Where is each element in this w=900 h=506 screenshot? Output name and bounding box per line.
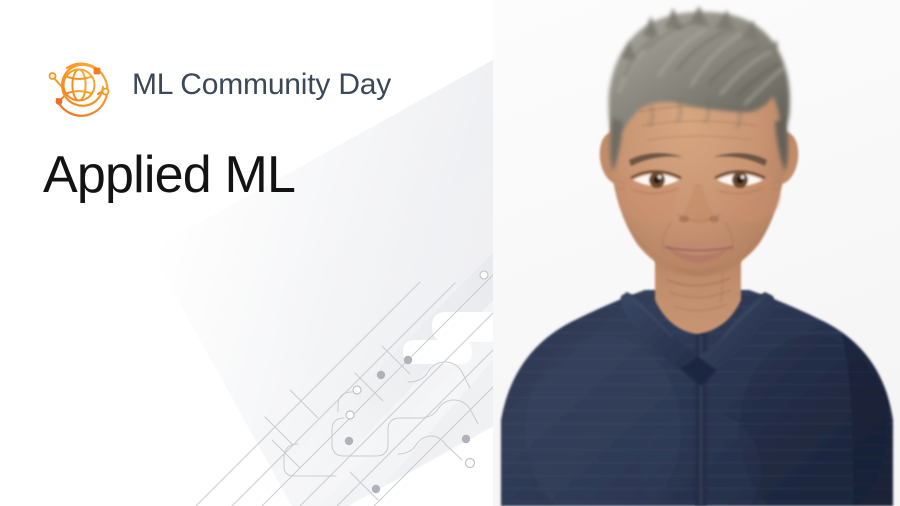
orbit-node-filled xyxy=(56,98,63,105)
node-dot-filled xyxy=(345,437,353,445)
globe-orbit-icon xyxy=(40,46,118,124)
node-dot-filled xyxy=(372,485,380,493)
orbit-node-hollow xyxy=(50,73,56,79)
node-dot-filled xyxy=(377,371,385,379)
orbit-node-hollow xyxy=(103,89,109,95)
background-wash-secondary xyxy=(262,147,493,494)
brand-wordmark: ML Community Day xyxy=(132,70,391,100)
circuit-nodes xyxy=(345,271,488,493)
speaker-photo-panel xyxy=(493,0,900,506)
orbit-node-square xyxy=(94,68,101,75)
circuit-traces xyxy=(196,275,493,506)
node-dot-hollow xyxy=(466,459,475,468)
wash-shapes xyxy=(243,253,493,506)
node-dot-filled xyxy=(404,356,412,364)
node-dot-filled xyxy=(462,435,470,443)
title-panel: ML Community Day Applied ML xyxy=(0,0,493,506)
node-dot-hollow xyxy=(346,411,354,419)
speaker-portrait xyxy=(493,0,900,506)
brand-logo: ML Community Day xyxy=(40,46,391,124)
node-dot-hollow xyxy=(480,271,488,279)
presentation-slide: ML Community Day Applied ML xyxy=(0,0,900,506)
slide-title: Applied ML xyxy=(43,146,295,206)
node-dot-hollow xyxy=(353,386,361,394)
